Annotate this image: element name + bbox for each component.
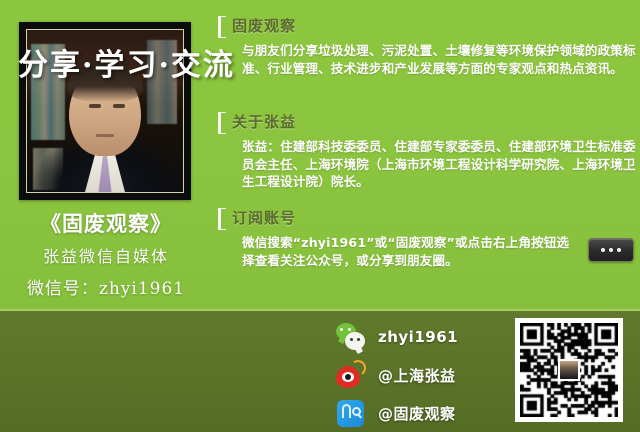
more-options-button[interactable] xyxy=(588,238,634,262)
social-label: @上海张益 xyxy=(378,365,456,386)
qr-center-logo xyxy=(558,359,580,381)
wechat-profile-card: 《固废观察》 张益微信自媒体 微信号：zhyi1961 固废观察 与朋友们分享垃… xyxy=(0,0,640,432)
section-header: 固废观察 xyxy=(218,14,640,40)
wechat-icon xyxy=(336,322,366,352)
account-subtitle: 张益微信自媒体 xyxy=(0,243,212,267)
social-label: zhyi1961 xyxy=(378,328,458,346)
mouth-shape xyxy=(96,134,114,137)
dot-icon xyxy=(617,248,621,252)
account-wechat-id: 微信号：zhyi1961 xyxy=(0,274,212,299)
eye-right xyxy=(113,104,125,108)
section-about-zhangyi: 关于张益 张益：住建部科技委委员、住建部专家委委员、住建部环境卫生标准委员会主任… xyxy=(218,110,640,191)
search-app-icon xyxy=(336,398,366,428)
weibo-icon xyxy=(336,360,366,390)
slogan-text: 分享·学习·交流 xyxy=(18,40,318,84)
section-subscribe-account: 订阅账号 微信搜索“zhyi1961”或“固废观察”或点击右上角按钮选择查看关注… xyxy=(218,206,640,269)
section-title: 固废观察 xyxy=(232,17,296,35)
section-body: 张益：住建部科技委委员、住建部专家委委员、住建部环境卫生标准委员会主任、上海环境… xyxy=(242,138,640,191)
social-list: zhyi1961 @上海张益 @固废观察 xyxy=(336,312,506,432)
dot-icon xyxy=(601,248,605,252)
eye-left xyxy=(89,104,101,108)
qr-code-matrix xyxy=(520,323,618,417)
dot-icon xyxy=(609,248,613,252)
section-title: 订阅账号 xyxy=(232,209,296,227)
social-row-search-app[interactable]: @固废观察 xyxy=(336,396,506,430)
bracket-marker-icon xyxy=(218,16,226,38)
bracket-marker-icon xyxy=(218,208,226,230)
social-label: @固废观察 xyxy=(378,403,456,424)
section-header: 关于张益 xyxy=(218,110,640,136)
social-row-wechat[interactable]: zhyi1961 xyxy=(336,320,506,354)
social-row-weibo[interactable]: @上海张益 xyxy=(336,358,506,392)
section-header: 订阅账号 xyxy=(218,206,640,232)
bracket-marker-icon xyxy=(218,112,226,134)
qr-code[interactable] xyxy=(515,318,623,422)
section-body: 微信搜索“zhyi1961”或“固废观察”或点击右上角按钮选择查看关注公众号，或… xyxy=(242,234,572,269)
account-title: 《固废观察》 xyxy=(0,208,212,238)
section-title: 关于张益 xyxy=(232,113,296,131)
